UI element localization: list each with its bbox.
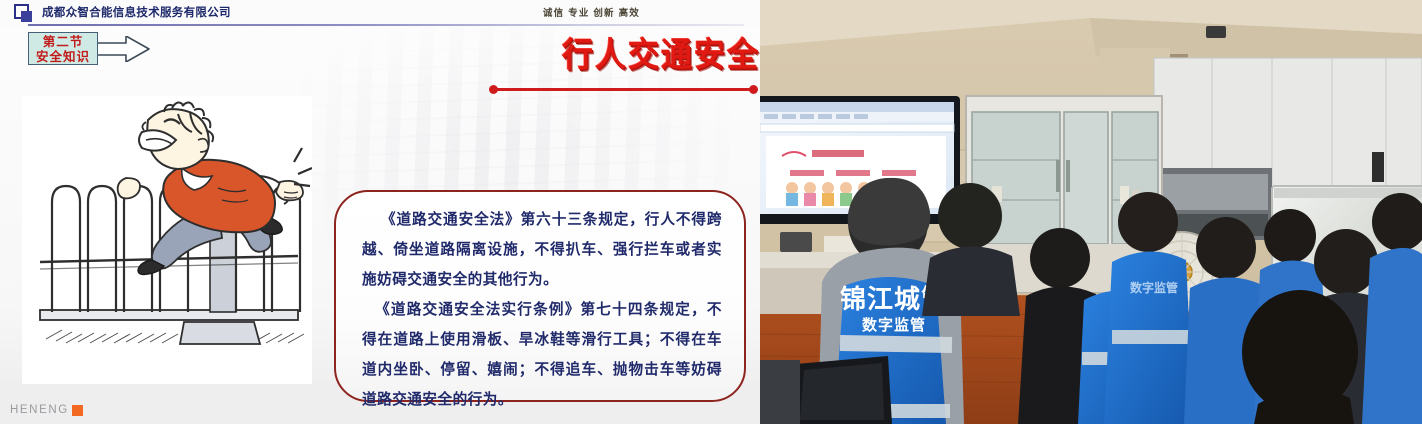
classroom-safety-training-photo: 锦江城管 数字监管 数字监管 — [760, 0, 1422, 424]
svg-text:数字监管: 数字监管 — [862, 316, 926, 334]
logo-filled-square — [21, 11, 32, 22]
law-text-box: 《道路交通安全法》第六十三条规定，行人不得跨越、倚坐道路隔离设施，不得扒车、强行… — [334, 190, 746, 402]
illustration-panel — [22, 96, 312, 384]
company-slogan: 诚信 专业 创新 高效 — [543, 5, 640, 19]
slide-and-photo-composite: 成都众智合能信息技术服务有限公司 诚信 专业 创新 高效 第二节 安全知识 行人… — [0, 0, 1422, 424]
section-tag-line2: 安全知识 — [36, 49, 90, 64]
slide-header: 成都众智合能信息技术服务有限公司 诚信 专业 创新 高效 — [0, 0, 760, 27]
svg-text:数字监管: 数字监管 — [1130, 280, 1178, 295]
law-paragraph-1: 《道路交通安全法》第六十三条规定，行人不得跨越、倚坐道路隔离设施，不得扒车、强行… — [362, 205, 722, 295]
slide-footer: HENENG — [10, 404, 83, 416]
orange-square-mark-icon — [72, 405, 83, 416]
section-tag-line1: 第二节 — [43, 34, 84, 49]
footer-brand-text: HENENG — [10, 404, 69, 416]
man-climbing-road-guardrail-cartoon-icon — [22, 96, 312, 384]
page-title: 行人交通安全 — [492, 36, 760, 75]
title-rule-dot-left — [489, 85, 498, 94]
title-rule-dot-right — [749, 85, 758, 94]
law-paragraph-2: 《道路交通安全法实行条例》第七十四条规定，不得在道路上使用滑板、旱冰鞋等滑行工具… — [362, 295, 722, 415]
title-underline-rule — [492, 88, 755, 91]
header-divider-rule — [28, 24, 744, 26]
company-name: 成都众智合能信息技术服务有限公司 — [42, 4, 231, 20]
classroom-photo-render: 锦江城管 数字监管 数字监管 — [760, 0, 1422, 424]
presentation-slide: 成都众智合能信息技术服务有限公司 诚信 专业 创新 高效 第二节 安全知识 行人… — [0, 0, 760, 424]
company-square-logo-icon — [14, 4, 35, 23]
section-tag-box: 第二节 安全知识 — [28, 32, 98, 65]
right-arrow-icon — [96, 36, 150, 62]
